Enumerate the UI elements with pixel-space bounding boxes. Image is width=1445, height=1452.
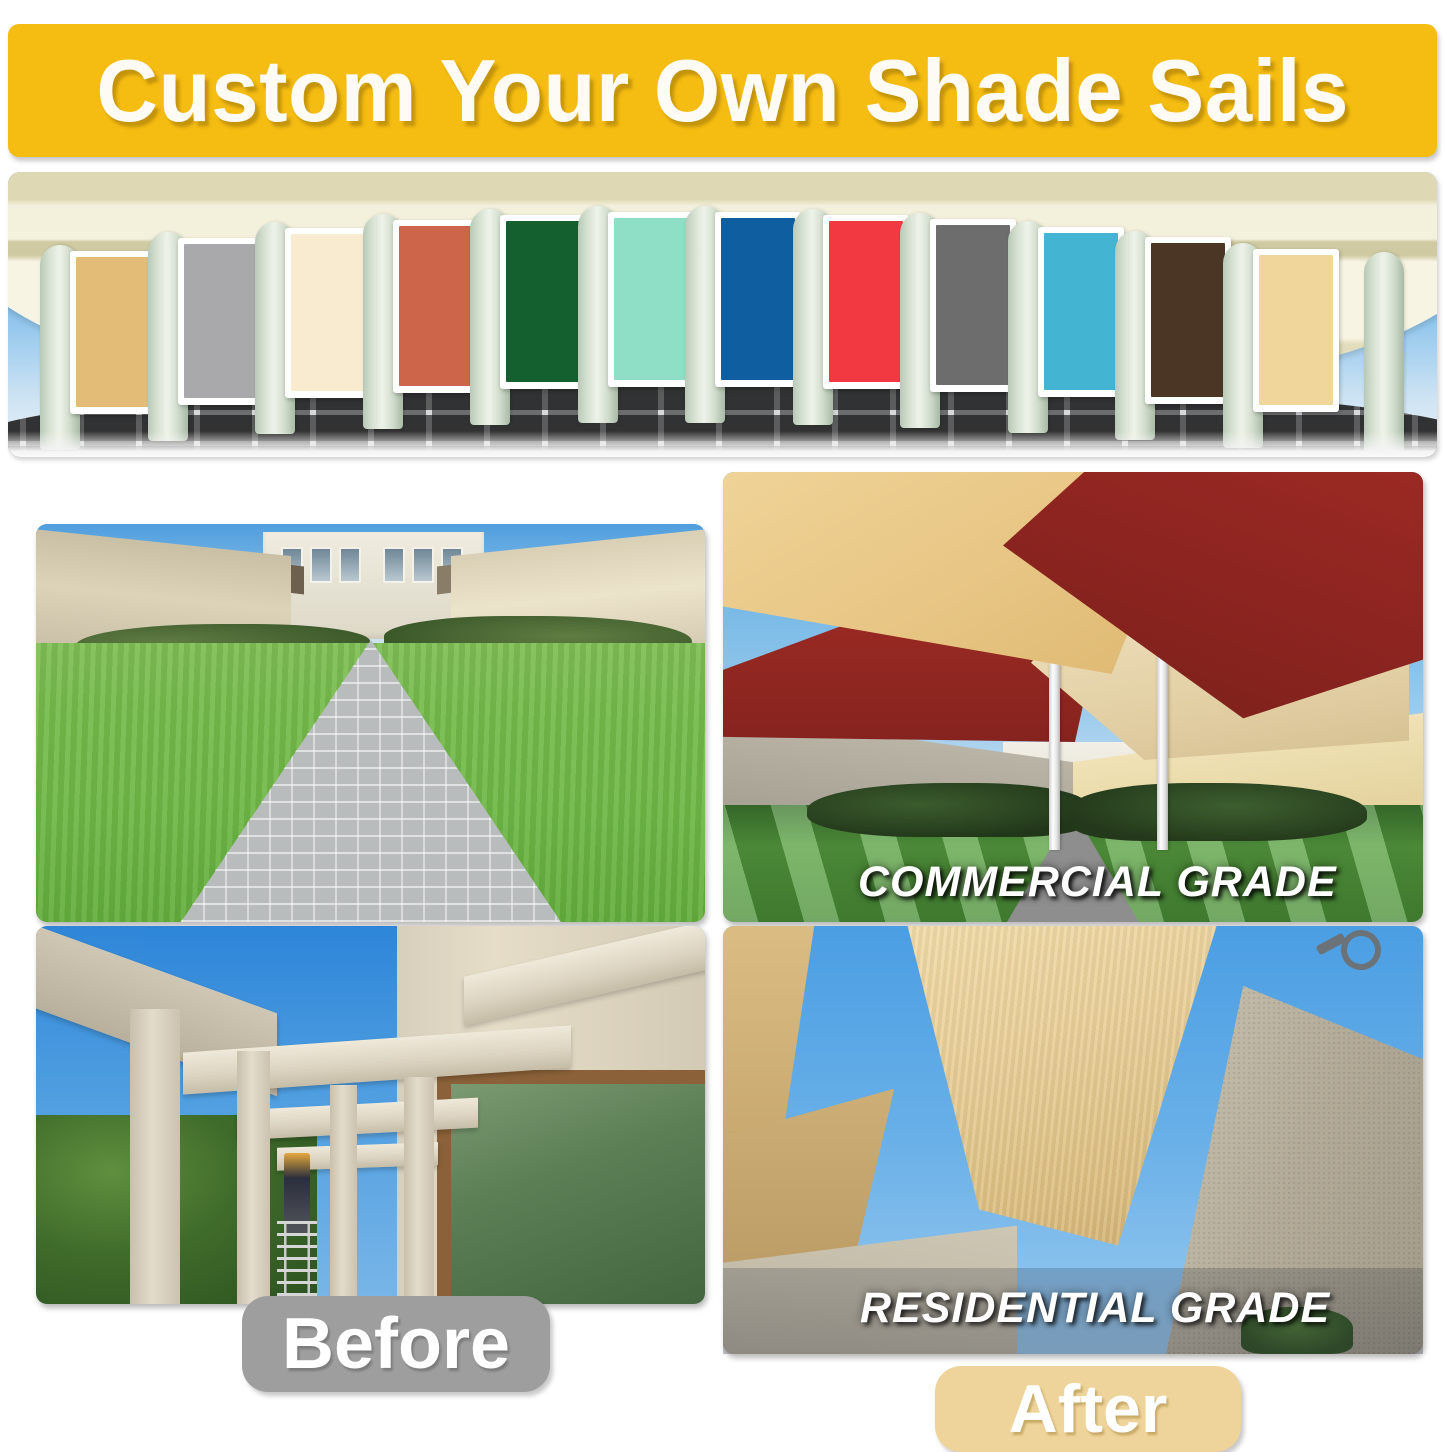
- page-title: Custom Your Own Shade Sails: [96, 47, 1349, 135]
- color-swatch-red[interactable]: [823, 215, 909, 389]
- color-swatch-fill: [614, 218, 688, 380]
- color-swatch-fill: [1259, 255, 1333, 405]
- color-swatch-terracotta[interactable]: [393, 220, 479, 392]
- color-swatch-fill: [721, 218, 795, 380]
- after-badge: After: [935, 1366, 1241, 1452]
- color-swatch-fill: [1044, 233, 1118, 390]
- photo-courtyard-before: [36, 524, 705, 922]
- color-swatch-fill: [399, 226, 473, 385]
- pergola-post: [404, 1077, 434, 1304]
- commercial-grade-label: COMMERCIAL GRADE: [858, 858, 1337, 907]
- color-swatch-brown[interactable]: [1145, 237, 1231, 404]
- color-swatch-mint-aqua[interactable]: [608, 212, 694, 387]
- color-swatch-dark-green[interactable]: [500, 215, 586, 389]
- color-swatch-turquoise[interactable]: [1038, 227, 1124, 397]
- pergola-post: [237, 1051, 270, 1304]
- base-fade: [8, 431, 1437, 457]
- before-badge: Before: [242, 1296, 550, 1392]
- window: [412, 547, 434, 583]
- color-swatch-fill: [291, 234, 365, 391]
- photo-commercial-grade: [723, 472, 1423, 922]
- before-badge-label: Before: [282, 1303, 510, 1385]
- color-swatch-sand[interactable]: [70, 251, 156, 413]
- after-badge-label: After: [1009, 1370, 1168, 1448]
- color-swatch-ivory[interactable]: [285, 228, 371, 398]
- window: [383, 547, 405, 583]
- colonnade: [8, 172, 1437, 457]
- ladder: [277, 1221, 317, 1297]
- color-swatch-strip: [8, 172, 1437, 457]
- color-swatch-fill: [936, 225, 1010, 385]
- header-banner: Custom Your Own Shade Sails: [8, 24, 1437, 157]
- scene: [36, 524, 705, 922]
- color-swatch-fill: [1151, 243, 1225, 397]
- color-swatch-fill: [829, 221, 903, 382]
- window: [310, 547, 332, 583]
- colonnade-column: [1364, 252, 1404, 454]
- scene: [36, 926, 705, 1304]
- pergola-post: [330, 1085, 357, 1304]
- color-swatch-light-grey[interactable]: [178, 238, 264, 405]
- pergola-post: [130, 1009, 180, 1304]
- color-swatch-fill: [506, 221, 580, 382]
- scene: [723, 472, 1423, 922]
- hedge-left: [807, 783, 1087, 837]
- color-swatch-fill: [184, 244, 258, 398]
- color-swatch-fill: [76, 257, 150, 406]
- window: [339, 547, 361, 583]
- color-swatch-wheat[interactable]: [1253, 249, 1339, 412]
- hedge-right: [1073, 783, 1367, 842]
- color-swatch-royal-blue[interactable]: [715, 212, 801, 387]
- residential-grade-label: RESIDENTIAL GRADE: [860, 1284, 1330, 1333]
- color-swatch-dark-grey[interactable]: [930, 219, 1016, 392]
- photo-pergola-before: [36, 926, 705, 1304]
